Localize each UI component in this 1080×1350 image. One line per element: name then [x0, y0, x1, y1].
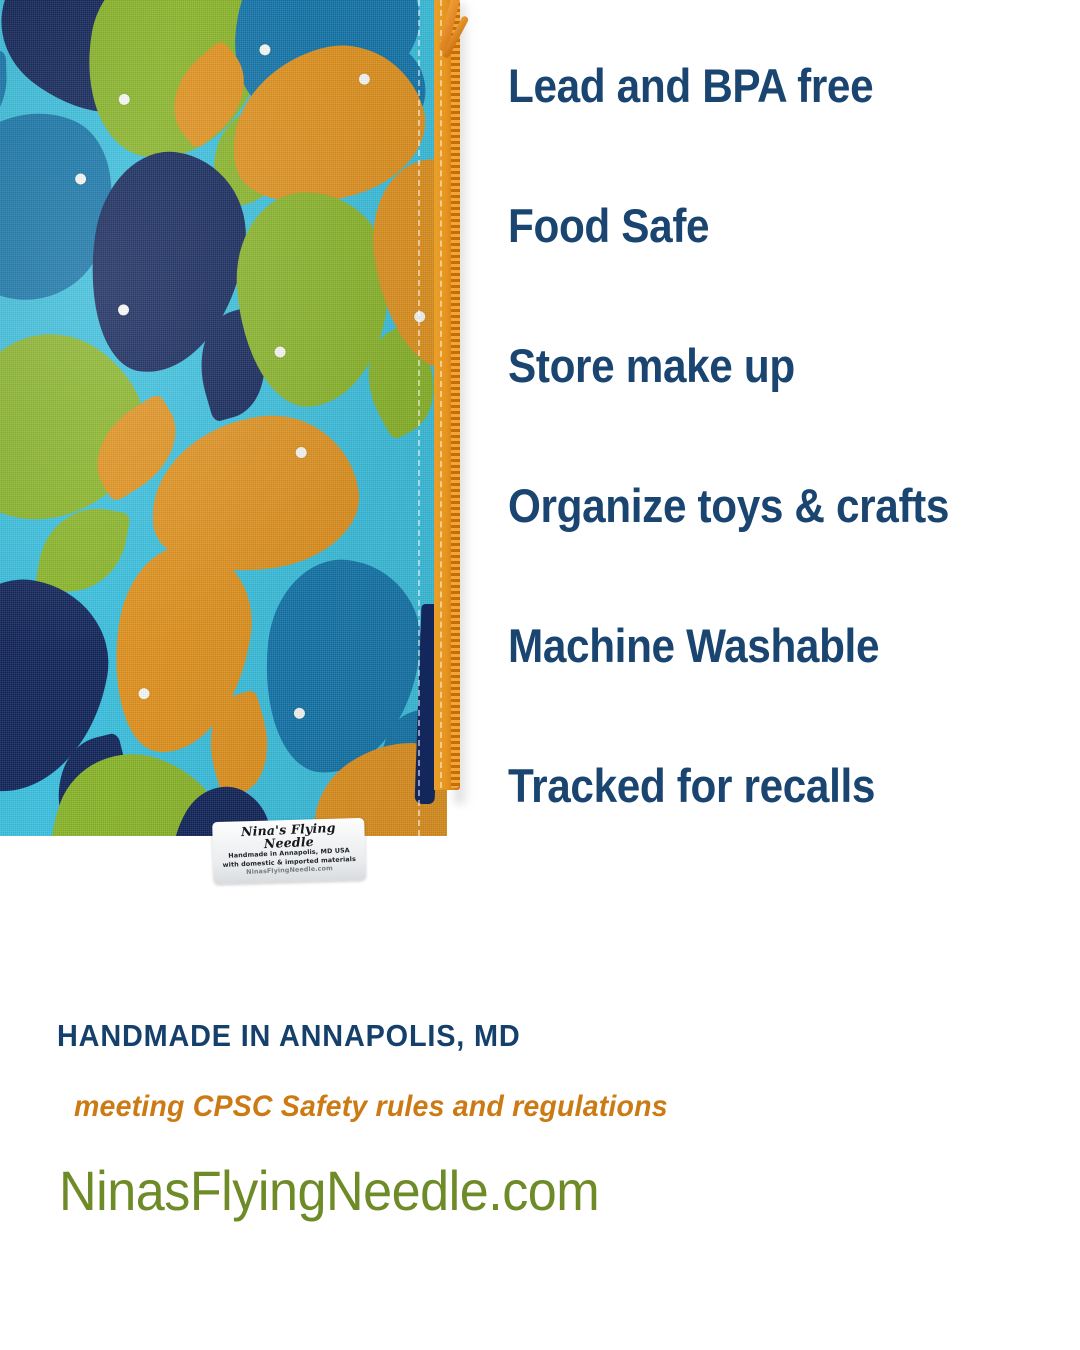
whale-motif [102, 538, 262, 762]
feature-item: Tracked for recalls [508, 762, 994, 902]
feature-item: Store make up [508, 342, 994, 482]
feature-item: Lead and BPA free [508, 62, 994, 202]
feature-item: Organize toys & crafts [508, 482, 994, 622]
whale-motif [77, 143, 256, 384]
footer-block: HANDMADE IN ANNAPOLIS, MD meeting CPSC S… [57, 1018, 1017, 1223]
handmade-location-text: HANDMADE IN ANNAPOLIS, MD [57, 1018, 950, 1054]
cpsc-compliance-text: meeting CPSC Safety rules and regulation… [74, 1090, 970, 1124]
feature-item: Food Safe [508, 202, 994, 342]
seam-stitch-line [418, 0, 420, 836]
feature-item: Machine Washable [508, 622, 994, 762]
product-photo: Nina's Flying Needle Handmade in Annapol… [0, 0, 470, 840]
pouch-fabric-body [0, 0, 447, 836]
zipper-teeth [451, 0, 460, 788]
website-url[interactable]: NinasFlyingNeedle.com [59, 1158, 950, 1223]
feature-list: Lead and BPA free Food Safe Store make u… [508, 62, 1048, 902]
zipper-edge-stitching [440, 0, 442, 788]
woven-brand-label: Nina's Flying Needle Handmade in Annapol… [212, 818, 366, 884]
